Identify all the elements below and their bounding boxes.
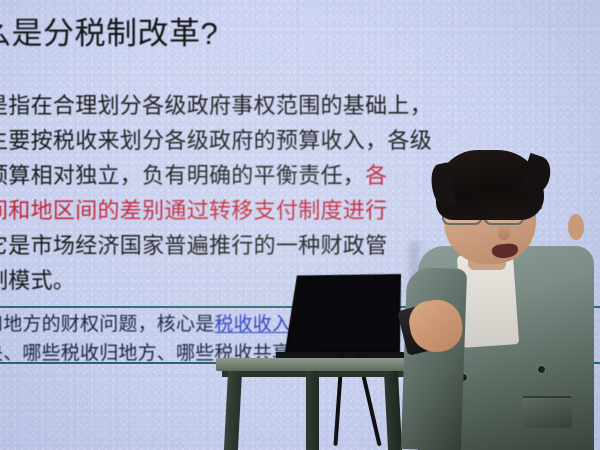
screenshot-root: 么是分税制改革? 是指在合理划分各级政府事权范围的基础上， 主要按税收来划分各级… xyxy=(0,0,600,450)
presenter-arm xyxy=(401,267,467,450)
callout-line-1-link: 税收收入 xyxy=(214,314,291,335)
slide-body-line-3-text: 预算相对独立，负有明确的平衡责任， xyxy=(0,163,365,188)
slide-body-line-3-highlight: 各 xyxy=(365,163,387,188)
presenter xyxy=(404,150,600,450)
slide-title: 么是分税制改革? xyxy=(0,14,218,54)
presenter-ear xyxy=(568,214,584,240)
presentation-stand-top xyxy=(216,358,412,371)
callout-line-1-prefix: 和地方的财权问题，核心是 xyxy=(0,314,214,335)
laptop-lid xyxy=(285,271,402,356)
jacket-pocket-button xyxy=(538,366,545,373)
presenter-nose xyxy=(498,224,510,240)
presenter-mouth xyxy=(491,243,518,260)
presentation-stand-leg-middle xyxy=(306,371,319,450)
slide-body-line-1: 是指在合理划分各级政府事权范围的基础上， xyxy=(0,88,600,123)
jacket-pocket xyxy=(522,396,572,428)
laptop-screen xyxy=(289,274,397,351)
